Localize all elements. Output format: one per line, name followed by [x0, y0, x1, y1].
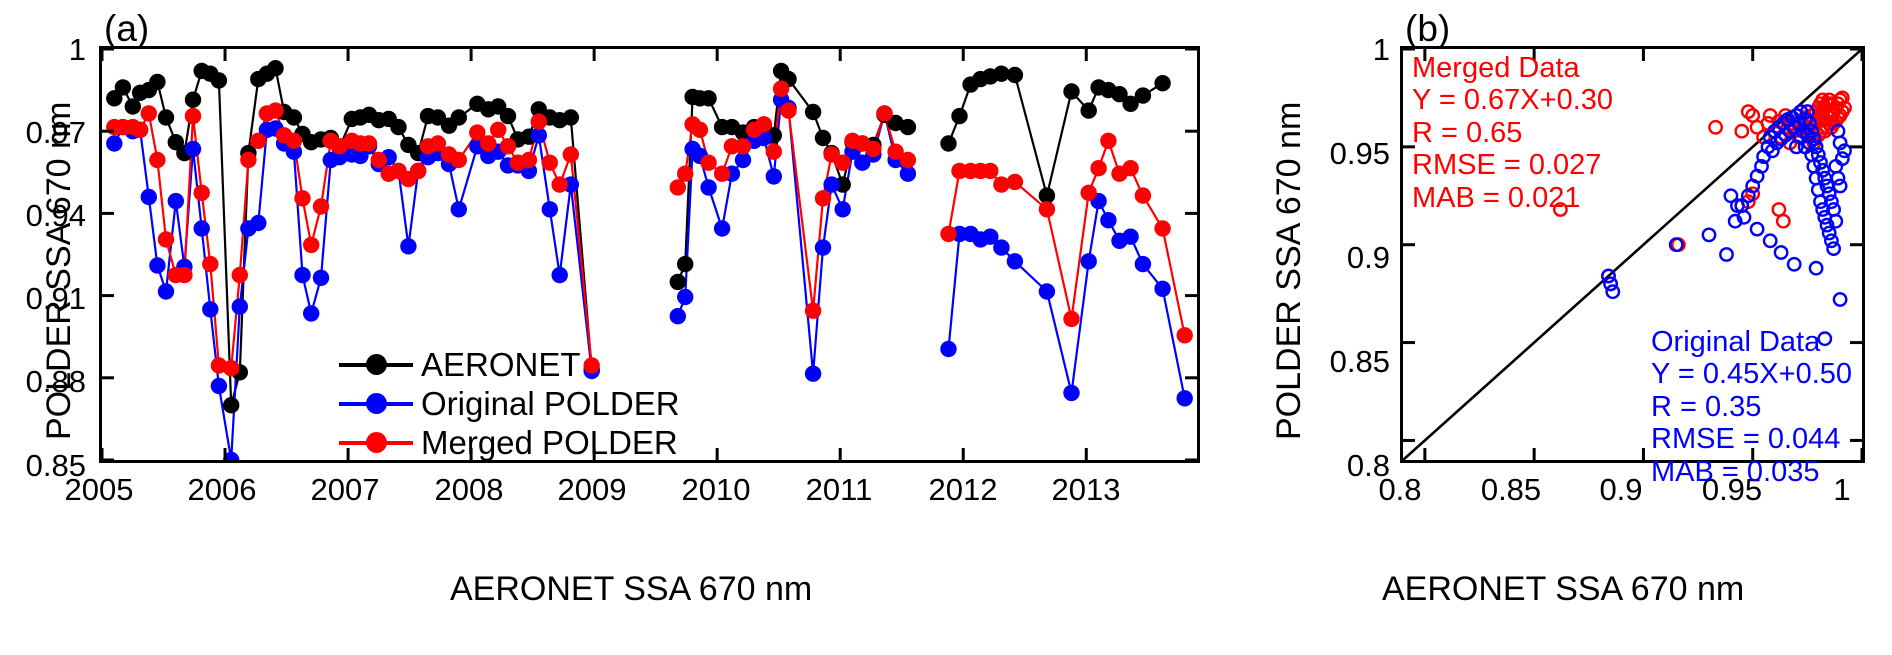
panel-a-tag: (a)	[104, 8, 149, 50]
original-stats-r: R = 0.35	[1651, 391, 1852, 423]
original-stats-mab: MAB = 0.035	[1651, 456, 1852, 488]
panel-b-tag: (b)	[1405, 8, 1450, 50]
panel-a-xtick-4: 2009	[532, 474, 652, 505]
panel-a-ytick-3: 0.94	[0, 200, 86, 231]
legend-label-aeronet: AERONET	[421, 346, 581, 384]
merged-stats-rmse: RMSE = 0.027	[1412, 149, 1613, 181]
legend-item-merged-polder: Merged POLDER	[339, 423, 680, 462]
original-stats-rmse: RMSE = 0.044	[1651, 423, 1852, 455]
panel-b-xtick-1: 0.85	[1451, 474, 1571, 505]
original-stats-equation: Y = 0.45X+0.50	[1651, 358, 1852, 390]
panel-a-xtick-2: 2007	[285, 474, 405, 505]
panel-a-legend: AERONET Original POLDER Merged POLDER	[339, 345, 680, 462]
legend-marker-merged-polder	[339, 432, 413, 454]
panel-a-ytick-4: 0.97	[0, 117, 86, 148]
original-data-stats-block: Original Data Y = 0.45X+0.50 R = 0.35 RM…	[1651, 326, 1852, 488]
panel-b-ytick-2: 0.9	[1290, 242, 1390, 273]
panel-a-xtick-3: 2008	[409, 474, 529, 505]
panel-b-ytick-4: 1	[1290, 34, 1390, 65]
legend-label-original-polder: Original POLDER	[421, 385, 680, 423]
panel-a-timeseries: (a) POLDER SSA 670 nm AERONET SSA 670 nm…	[0, 0, 1230, 655]
figure-root: (a) POLDER SSA 670 nm AERONET SSA 670 nm…	[0, 0, 1892, 655]
panel-b-ytick-3: 0.95	[1290, 138, 1390, 169]
panel-a-xtick-6: 2011	[779, 474, 899, 505]
panel-b-xtick-0: 0.8	[1340, 474, 1460, 505]
legend-label-merged-polder: Merged POLDER	[421, 424, 678, 462]
legend-item-aeronet: AERONET	[339, 345, 680, 384]
panel-a-xtick-0: 2005	[39, 474, 159, 505]
merged-stats-equation: Y = 0.67X+0.30	[1412, 84, 1613, 116]
panel-a-ytick-2: 0.91	[0, 283, 86, 314]
original-stats-title: Original Data	[1651, 326, 1852, 358]
panel-b-x-axis-title: AERONET SSA 670 nm	[1382, 570, 1744, 609]
merged-stats-mab: MAB = 0.021	[1412, 182, 1613, 214]
legend-marker-original-polder	[339, 393, 413, 415]
legend-marker-aeronet	[339, 354, 413, 376]
panel-a-xtick-8: 2013	[1026, 474, 1146, 505]
panel-a-x-axis-title: AERONET SSA 670 nm	[450, 570, 812, 609]
panel-b-ytick-1: 0.85	[1290, 346, 1390, 377]
panel-a-xtick-1: 2006	[162, 474, 282, 505]
panel-a-xtick-5: 2010	[656, 474, 776, 505]
panel-a-xtick-7: 2012	[903, 474, 1023, 505]
merged-stats-title: Merged Data	[1412, 52, 1613, 84]
panel-a-ytick-1: 0.88	[0, 366, 86, 397]
panel-b-scatter: (b) POLDER SSA 670 nm AERONET SSA 670 nm…	[1230, 0, 1892, 655]
merged-stats-r: R = 0.65	[1412, 117, 1613, 149]
panel-a-ytick-5: 1	[0, 34, 86, 65]
merged-data-stats-block: Merged Data Y = 0.67X+0.30 R = 0.65 RMSE…	[1412, 52, 1613, 214]
legend-item-original-polder: Original POLDER	[339, 384, 680, 423]
